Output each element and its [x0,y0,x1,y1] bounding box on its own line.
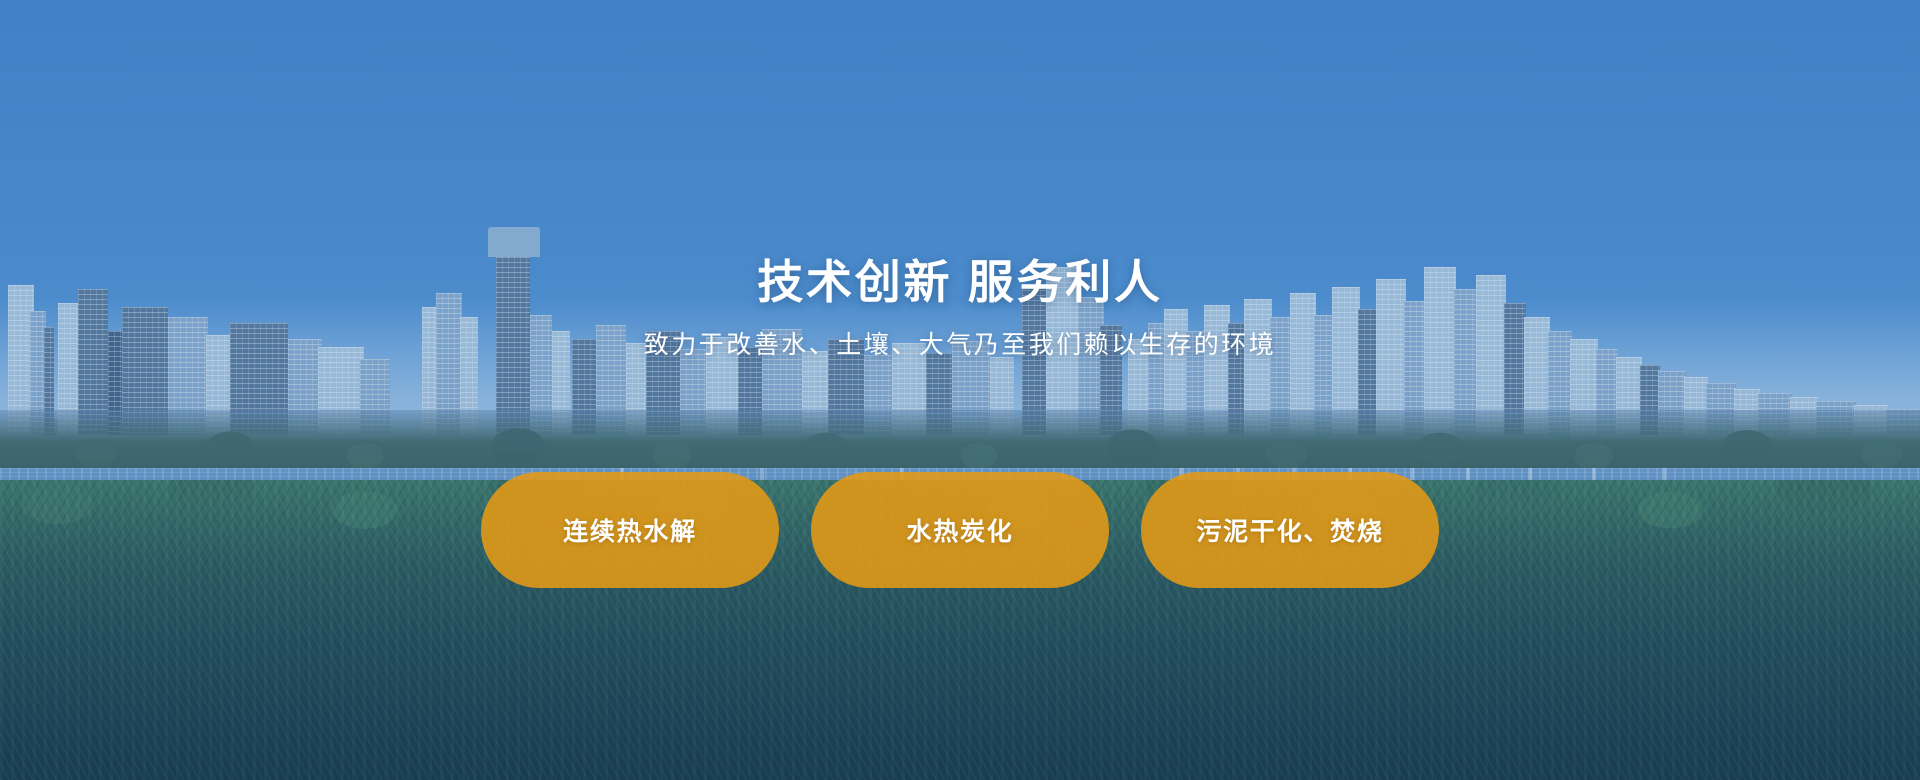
page-subtitle: 致力于改善水、土壤、大气乃至我们赖以生存的环境 [0,325,1920,361]
page-title: 技术创新 服务利人 [0,255,1920,309]
pill-button-hydrothermal-carbonization[interactable]: 水热炭化 [811,472,1109,588]
hero-copy: 技术创新 服务利人 致力于改善水、土壤、大气乃至我们赖以生存的环境 [0,255,1920,361]
hero-banner: 技术创新 服务利人 致力于改善水、土壤、大气乃至我们赖以生存的环境 连续热水解 … [0,0,1920,780]
service-pill-group: 连续热水解 水热炭化 污泥干化、焚烧 [0,472,1920,588]
pill-button-continuous-thermal-hydrolysis[interactable]: 连续热水解 [481,472,779,588]
pill-button-sludge-drying-incineration[interactable]: 污泥干化、焚烧 [1141,472,1439,588]
